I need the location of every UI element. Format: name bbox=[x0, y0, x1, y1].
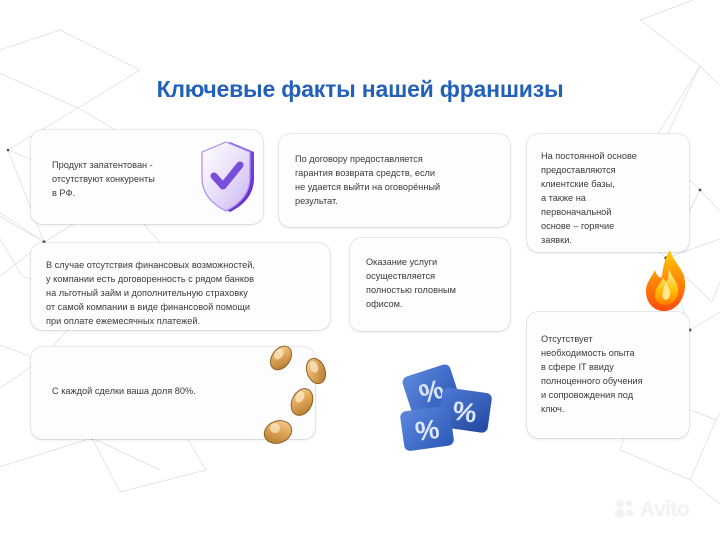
svg-text:%: % bbox=[416, 374, 448, 410]
fact-card-patent-text: Продукт запатентован - отсутствуют конку… bbox=[52, 159, 227, 201]
fact-card-head-office-text: Оказание услуги осуществляется полностью… bbox=[366, 256, 506, 312]
fact-card-financing-text: В случае отсутствия финансовых возможнос… bbox=[46, 259, 326, 329]
fact-card-client-base: На постоянной основе предоставляются кли… bbox=[527, 134, 689, 252]
svg-text:%: % bbox=[413, 414, 441, 447]
fact-card-guarantee: По договору предоставляется гарантия воз… bbox=[279, 134, 510, 227]
fact-card-no-it-experience-text: Отсутствует необходимость опыта в сфере … bbox=[541, 333, 683, 417]
svg-text:%: % bbox=[451, 396, 479, 429]
avito-watermark: Avito bbox=[614, 496, 710, 522]
avito-wordmark: Avito bbox=[640, 499, 689, 520]
percent-tiles-icon: % % % bbox=[392, 362, 512, 454]
fact-card-profit-share: С каждой сделки ваша доля 80%. bbox=[31, 347, 315, 439]
fact-card-head-office: Оказание услуги осуществляется полностью… bbox=[350, 238, 510, 331]
fact-card-no-it-experience: Отсутствует необходимость опыта в сфере … bbox=[527, 312, 689, 438]
fact-card-profit-share-text: С каждой сделки ваша доля 80%. bbox=[52, 385, 297, 399]
fact-card-financing: В случае отсутствия финансовых возможнос… bbox=[31, 243, 330, 330]
avito-dots-icon bbox=[614, 499, 636, 519]
fact-card-patent: Продукт запатентован - отсутствуют конку… bbox=[31, 130, 263, 224]
fact-card-guarantee-text: По договору предоставляется гарантия воз… bbox=[295, 153, 500, 209]
slide-canvas: Ключевые факты нашей франшизы Продукт за… bbox=[0, 0, 720, 540]
flame-icon bbox=[640, 248, 694, 314]
fact-card-client-base-text: На постоянной основе предоставляются кли… bbox=[541, 150, 681, 248]
page-title: Ключевые факты нашей франшизы bbox=[0, 76, 720, 103]
